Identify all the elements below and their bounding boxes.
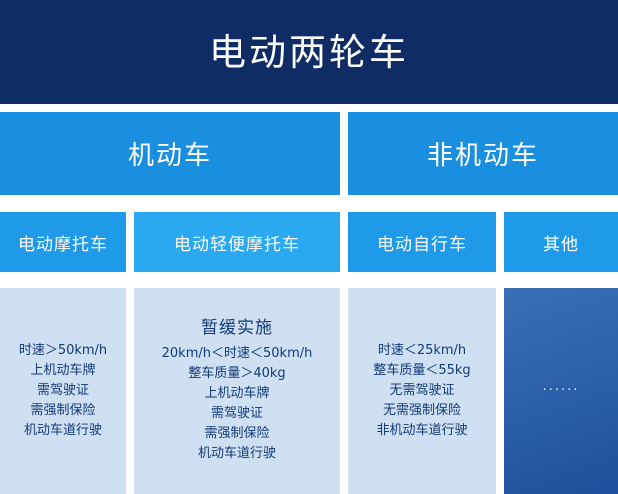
detail-heading-deferred: 暂缓实施 <box>201 318 273 338</box>
detail-line: 时速＜25km/h <box>378 341 466 361</box>
detail-line: 上机动车牌 <box>204 384 269 404</box>
type-label-electric-motorcycle: 电动摩托车 <box>18 230 108 255</box>
detail-panel-electric-motorcycle: 时速＞50km/h 上机动车牌 需驾驶证 需强制保险 机动车道行驶 <box>0 288 126 494</box>
detail-line: 无需驾驶证 <box>389 381 454 401</box>
detail-line: 20km/h＜时速＜50km/h <box>162 344 313 364</box>
detail-line: 非机动车道行驶 <box>376 421 467 441</box>
detail-line: 整车质量＜55kg <box>373 361 470 381</box>
detail-line: 机动车道行驶 <box>24 421 102 441</box>
detail-line: 需驾驶证 <box>211 404 263 424</box>
detail-line: 整车质量＞40kg <box>188 364 285 384</box>
type-box-other: 其他 <box>504 212 618 272</box>
detail-line: 机动车道行驶 <box>198 444 276 464</box>
type-box-electric-motorcycle: 电动摩托车 <box>0 212 126 272</box>
category-box-motor-vehicle: 机动车 <box>0 112 340 195</box>
detail-line: 上机动车牌 <box>30 361 95 381</box>
detail-line: 需驾驶证 <box>37 381 89 401</box>
type-box-electric-moped: 电动轻便摩托车 <box>134 212 340 272</box>
detail-panel-electric-moped: 暂缓实施 20km/h＜时速＜50km/h 整车质量＞40kg 上机动车牌 需驾… <box>134 288 340 494</box>
detail-line: 需强制保险 <box>30 401 95 421</box>
type-label-other: 其他 <box>543 230 579 255</box>
type-box-electric-bicycle: 电动自行车 <box>348 212 496 272</box>
category-label-motor-vehicle: 机动车 <box>128 135 212 172</box>
category-label-non-motor-vehicle: 非机动车 <box>427 135 539 172</box>
category-box-non-motor-vehicle: 非机动车 <box>348 112 618 195</box>
detail-line: 无需强制保险 <box>383 401 461 421</box>
detail-line: 需强制保险 <box>204 424 269 444</box>
type-label-electric-moped: 电动轻便摩托车 <box>174 230 300 255</box>
detail-panel-other: ······ <box>504 288 618 494</box>
detail-line-ellipsis: ······ <box>543 381 580 401</box>
page-title: 电动两轮车 <box>209 34 409 71</box>
detail-line: 时速＞50km/h <box>19 341 107 361</box>
detail-panel-electric-bicycle: 时速＜25km/h 整车质量＜55kg 无需驾驶证 无需强制保险 非机动车道行驶 <box>348 288 496 494</box>
infographic-root: 电动两轮车 机动车 非机动车 电动摩托车 电动轻便摩托车 电动自行车 其他 时速… <box>0 0 618 494</box>
diagram-title-bar: 电动两轮车 <box>0 0 618 104</box>
type-label-electric-bicycle: 电动自行车 <box>377 230 467 255</box>
